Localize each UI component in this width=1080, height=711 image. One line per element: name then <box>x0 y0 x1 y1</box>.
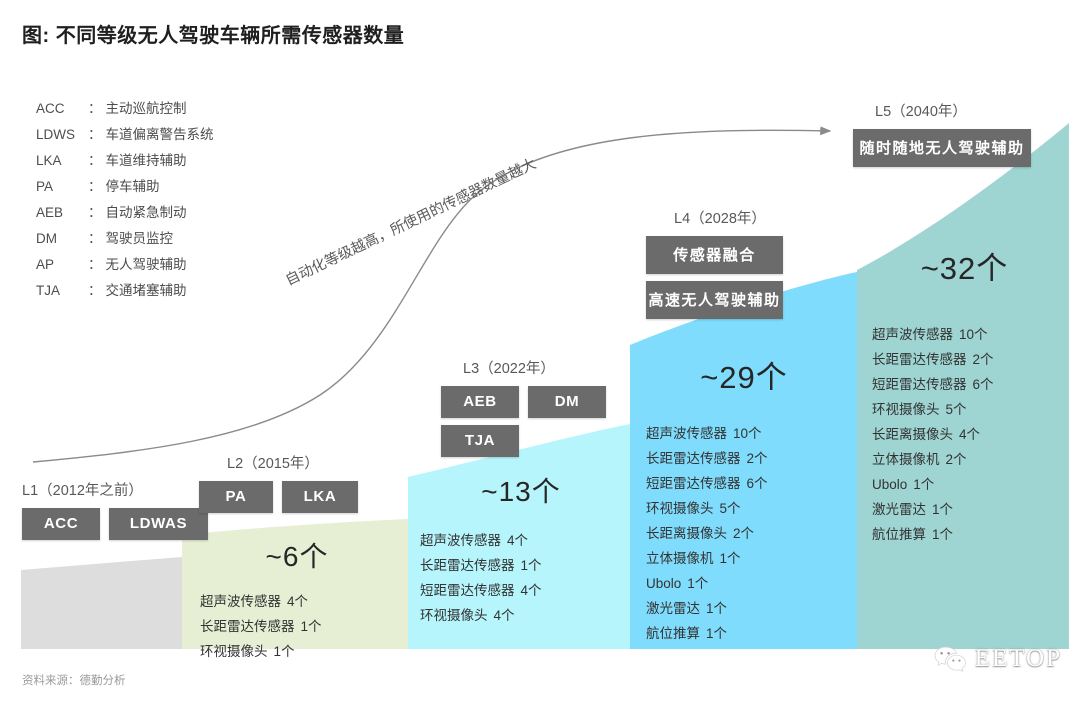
sensor-name: 立体摄像机 <box>872 452 940 467</box>
chip-row-L5: 随时随地无人驾驶辅助 <box>853 129 1031 167</box>
chip-anytime-anywhere-autopilot[interactable]: 随时随地无人驾驶辅助 <box>853 129 1031 167</box>
sensor-name: 长距离摄像头 <box>872 427 953 442</box>
sensor-qty: 1个 <box>521 558 542 573</box>
sensor-qty: 5个 <box>946 402 967 417</box>
sensor-qty: 1个 <box>687 576 708 591</box>
sensor-row: 长距离摄像头4个 <box>872 422 1067 447</box>
sensor-row: 长距雷达传感器2个 <box>872 347 1067 372</box>
sensor-qty: 1个 <box>706 601 727 616</box>
sensor-row: 短距雷达传感器6个 <box>872 372 1067 397</box>
sensor-name: 环视摄像头 <box>872 402 940 417</box>
sensor-name: 环视摄像头 <box>646 501 714 516</box>
sensor-qty: 6个 <box>747 476 768 491</box>
count-L3: ~13个 <box>414 470 628 510</box>
chip-acc[interactable]: ACC <box>22 508 100 540</box>
chip-highway-autopilot[interactable]: 高速无人驾驶辅助 <box>646 281 783 319</box>
sensor-row: 超声波传感器4个 <box>420 528 628 553</box>
count-L5: ~32个 <box>862 243 1067 288</box>
sensor-row: Ubolo1个 <box>872 472 1067 497</box>
chip-row-L4: 传感器融合 <box>646 236 783 274</box>
sensor-row: 立体摄像机2个 <box>872 447 1067 472</box>
sensor-row: 环视摄像头5个 <box>872 397 1067 422</box>
sensor-name: Ubolo <box>646 576 681 591</box>
chip-sensor-fusion[interactable]: 传感器融合 <box>646 236 783 274</box>
chip-pa[interactable]: PA <box>199 481 273 513</box>
sensor-qty: 10个 <box>733 426 762 441</box>
sensor-qty: 2个 <box>973 352 994 367</box>
sensor-row: 航位推算1个 <box>646 621 852 646</box>
chip-lka[interactable]: LKA <box>282 481 358 513</box>
wechat-icon <box>934 645 968 673</box>
level-head-L2: L2（2015年） PA LKA <box>199 452 358 520</box>
band-body-L5: ~32个 超声波传感器10个 长距雷达传感器2个 短距雷达传感器6个 环视摄像头… <box>862 243 1067 547</box>
level-title-L5: L5（2040年） <box>853 100 1031 121</box>
infographic-root: 图: 不同等级无人驾驶车辆所需传感器数量 ACC ： 主动巡航控制 LDWS ：… <box>0 0 1080 711</box>
sensor-qty: 2个 <box>946 452 967 467</box>
sensor-qty: 2个 <box>747 451 768 466</box>
sensor-name: 短距雷达传感器 <box>420 583 515 598</box>
count-L4: ~29个 <box>636 352 852 397</box>
chip-dm[interactable]: DM <box>528 386 606 418</box>
level-head-L3: L3（2022年） AEB DM TJA <box>441 357 606 464</box>
sensor-list-L3: 超声波传感器4个 长距雷达传感器1个 短距雷达传感器4个 环视摄像头4个 <box>414 528 628 628</box>
sensor-row: 激光雷达1个 <box>872 497 1067 522</box>
chip-row-L2: PA LKA <box>199 481 358 513</box>
sensor-row: 长距离摄像头2个 <box>646 521 852 546</box>
sensor-name: 短距雷达传感器 <box>646 476 741 491</box>
sensor-name: 长距雷达传感器 <box>872 352 967 367</box>
sensor-name: 长距离摄像头 <box>646 526 727 541</box>
sensor-qty: 1个 <box>274 644 295 659</box>
sensor-list-L2: 超声波传感器4个 长距雷达传感器1个 环视摄像头1个 <box>192 589 402 664</box>
chip-row-L4-second: 高速无人驾驶辅助 <box>646 281 783 319</box>
sensor-qty: 2个 <box>733 526 754 541</box>
sensor-name: 长距雷达传感器 <box>200 619 295 634</box>
sensor-name: 航位推算 <box>872 527 926 542</box>
sensor-name: 激光雷达 <box>872 502 926 517</box>
band-L1 <box>21 557 182 649</box>
sensor-row: 环视摄像头1个 <box>200 639 402 664</box>
watermark: EETOP <box>934 645 1062 673</box>
sensor-qty: 1个 <box>301 619 322 634</box>
sensor-row: 超声波传感器4个 <box>200 589 402 614</box>
sensor-row: 超声波传感器10个 <box>872 322 1067 347</box>
level-head-L5: L5（2040年） 随时随地无人驾驶辅助 <box>853 100 1031 174</box>
sensor-list-L5: 超声波传感器10个 长距雷达传感器2个 短距雷达传感器6个 环视摄像头5个 长距… <box>862 322 1067 547</box>
sensor-row: 航位推算1个 <box>872 522 1067 547</box>
sensor-row: 长距雷达传感器1个 <box>420 553 628 578</box>
sensor-name: 超声波传感器 <box>872 327 953 342</box>
source-note: 资料来源：德勤分析 <box>22 672 126 688</box>
sensor-name: 环视摄像头 <box>200 644 268 659</box>
sensor-qty: 10个 <box>959 327 988 342</box>
level-head-L1: L1（2012年之前） ACC LDWAS <box>22 479 208 547</box>
sensor-qty: 4个 <box>521 583 542 598</box>
sensor-name: 短距雷达传感器 <box>872 377 967 392</box>
sensor-row: 长距雷达传感器2个 <box>646 446 852 471</box>
sensor-qty: 1个 <box>706 626 727 641</box>
sensor-name: 激光雷达 <box>646 601 700 616</box>
sensor-list-L4: 超声波传感器10个 长距雷达传感器2个 短距雷达传感器6个 环视摄像头5个 长距… <box>636 421 852 646</box>
sensor-qty: 4个 <box>959 427 980 442</box>
sensor-row: 短距雷达传感器4个 <box>420 578 628 603</box>
sensor-qty: 4个 <box>507 533 528 548</box>
chip-row-L3: AEB DM <box>441 386 606 418</box>
sensor-name: 超声波传感器 <box>200 594 281 609</box>
sensor-row: 立体摄像机1个 <box>646 546 852 571</box>
sensor-qty: 4个 <box>287 594 308 609</box>
level-title-L2: L2（2015年） <box>199 452 358 473</box>
sensor-row: Ubolo1个 <box>646 571 852 596</box>
band-body-L2: ~6个 超声波传感器4个 长距雷达传感器1个 环视摄像头1个 <box>192 535 402 664</box>
sensor-row: 环视摄像头5个 <box>646 496 852 521</box>
chip-row-L3-second: TJA <box>441 425 606 457</box>
level-head-L4: L4（2028年） 传感器融合 高速无人驾驶辅助 <box>646 207 783 326</box>
sensor-name: 长距雷达传感器 <box>420 558 515 573</box>
sensor-name: 航位推算 <box>646 626 700 641</box>
level-title-L3: L3（2022年） <box>441 357 606 378</box>
level-title-L4: L4（2028年） <box>646 207 783 228</box>
chip-tja[interactable]: TJA <box>441 425 519 457</box>
watermark-text: EETOP <box>975 645 1062 673</box>
sensor-row: 短距雷达传感器6个 <box>646 471 852 496</box>
count-L2: ~6个 <box>192 535 402 575</box>
sensor-name: 立体摄像机 <box>646 551 714 566</box>
sensor-qty: 1个 <box>913 477 934 492</box>
sensor-name: 超声波传感器 <box>420 533 501 548</box>
sensor-qty: 1个 <box>720 551 741 566</box>
sensor-name: 超声波传感器 <box>646 426 727 441</box>
sensor-name: 环视摄像头 <box>420 608 488 623</box>
level-title-L1: L1（2012年之前） <box>22 479 208 500</box>
sensor-name: Ubolo <box>872 477 907 492</box>
sensor-qty: 4个 <box>494 608 515 623</box>
sensor-qty: 5个 <box>720 501 741 516</box>
sensor-qty: 1个 <box>932 502 953 517</box>
sensor-name: 长距雷达传感器 <box>646 451 741 466</box>
chip-aeb[interactable]: AEB <box>441 386 519 418</box>
chip-row-L1: ACC LDWAS <box>22 508 208 540</box>
band-body-L3: ~13个 超声波传感器4个 长距雷达传感器1个 短距雷达传感器4个 环视摄像头4… <box>414 470 628 628</box>
sensor-row: 环视摄像头4个 <box>420 603 628 628</box>
sensor-row: 超声波传感器10个 <box>646 421 852 446</box>
sensor-row: 激光雷达1个 <box>646 596 852 621</box>
sensor-qty: 6个 <box>973 377 994 392</box>
sensor-row: 长距雷达传感器1个 <box>200 614 402 639</box>
band-body-L4: ~29个 超声波传感器10个 长距雷达传感器2个 短距雷达传感器6个 环视摄像头… <box>636 352 852 646</box>
sensor-qty: 1个 <box>932 527 953 542</box>
